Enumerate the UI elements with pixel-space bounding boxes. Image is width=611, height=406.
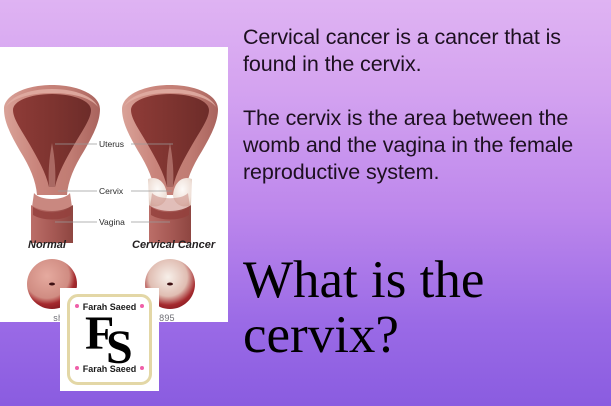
pink-dot-icon [75, 304, 79, 308]
label-vagina: Vagina [99, 217, 125, 227]
caption-cervical-cancer: Cervical Cancer [132, 239, 215, 251]
logo-bottom-text-row: Farah Saeed [60, 364, 159, 374]
caption-normal: Normal [28, 239, 66, 251]
slide-canvas: Uterus Cervix Vagina Normal Cervical Can… [0, 0, 611, 406]
paragraph-definition: Cervical cancer is a cancer that is foun… [243, 24, 595, 78]
page-title: What is the cervix? [243, 253, 603, 363]
label-uterus: Uterus [99, 139, 124, 149]
pink-dot-icon [140, 366, 144, 370]
pink-dot-icon [75, 366, 79, 370]
paragraph-location: The cervix is the area between the womb … [243, 105, 595, 186]
normal-uterus-illustration [4, 85, 100, 243]
cervical-cancer-uterus-illustration [122, 85, 218, 243]
label-cervix: Cervix [99, 186, 123, 196]
pink-dot-icon [140, 304, 144, 308]
diagram-stage: Uterus Cervix Vagina Normal Cervical Can… [0, 47, 228, 285]
farah-saeed-logo: Farah Saeed F S Farah Saeed [60, 288, 159, 391]
body-text-column: Cervical cancer is a cancer that is foun… [243, 24, 595, 186]
logo-monogram: F S [60, 310, 159, 366]
anatomy-diagram-panel: Uterus Cervix Vagina Normal Cervical Can… [0, 47, 228, 285]
logo-bottom-text: Farah Saeed [83, 364, 137, 374]
